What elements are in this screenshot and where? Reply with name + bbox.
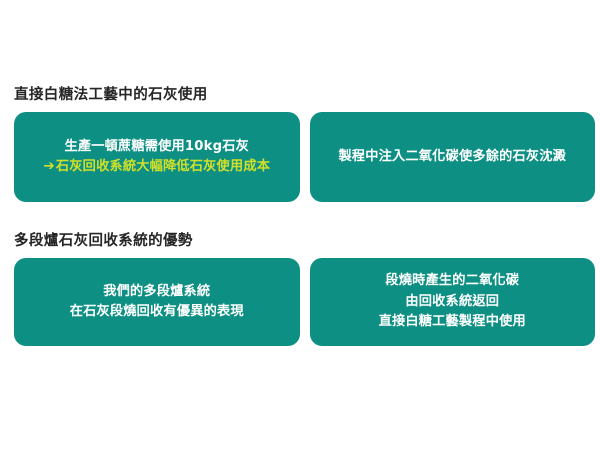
card-line: 在石灰段燒回收有優異的表現 bbox=[70, 302, 244, 322]
card-multi-hearth-performance[interactable]: 我們的多段爐系統 在石灰段燒回收有優異的表現 bbox=[14, 258, 300, 346]
card-line: 我們的多段爐系統 bbox=[103, 282, 210, 302]
section-2-card-row: 我們的多段爐系統 在石灰段燒回收有優異的表現 段燒時產生的二氧化碳 由回收系統返… bbox=[0, 258, 600, 346]
section-1-heading: 直接白糖法工藝中的石灰使用 bbox=[14, 86, 600, 104]
card-line: 製程中注入二氧化碳使多餘的石灰沈澱 bbox=[338, 147, 566, 167]
card-line: 直接白糖工藝製程中使用 bbox=[379, 312, 526, 332]
card-co2-return-loop[interactable]: 段燒時產生的二氧化碳 由回收系統返回 直接白糖工藝製程中使用 bbox=[310, 258, 596, 346]
card-co2-injection[interactable]: 製程中注入二氧化碳使多餘的石灰沈澱 bbox=[310, 112, 596, 202]
card-line: 生產一頓蔗糖需使用10kg石灰 bbox=[64, 137, 249, 157]
slide-canvas: 直接白糖法工藝中的石灰使用 生產一頓蔗糖需使用10kg石灰 ➔石灰回收系統大幅降… bbox=[0, 0, 600, 450]
section-lime-usage: 直接白糖法工藝中的石灰使用 生產一頓蔗糖需使用10kg石灰 ➔石灰回收系統大幅降… bbox=[0, 86, 600, 202]
card-line-accent-text: 石灰回收系統大幅降低石灰使用成本 bbox=[56, 159, 270, 174]
card-line: 段燒時產生的二氧化碳 bbox=[385, 271, 519, 291]
arrow-right-icon: ➔ bbox=[43, 160, 55, 174]
section-1-card-row: 生產一頓蔗糖需使用10kg石灰 ➔石灰回收系統大幅降低石灰使用成本 製程中注入二… bbox=[0, 112, 600, 202]
section-2-heading: 多段爐石灰回收系統的優勢 bbox=[14, 232, 600, 250]
section-multi-hearth-advantages: 多段爐石灰回收系統的優勢 我們的多段爐系統 在石灰段燒回收有優異的表現 段燒時產… bbox=[0, 232, 600, 346]
card-line-accent: ➔石灰回收系統大幅降低石灰使用成本 bbox=[43, 157, 270, 177]
card-line: 由回收系統返回 bbox=[405, 292, 499, 312]
card-lime-consumption[interactable]: 生產一頓蔗糖需使用10kg石灰 ➔石灰回收系統大幅降低石灰使用成本 bbox=[14, 112, 300, 202]
